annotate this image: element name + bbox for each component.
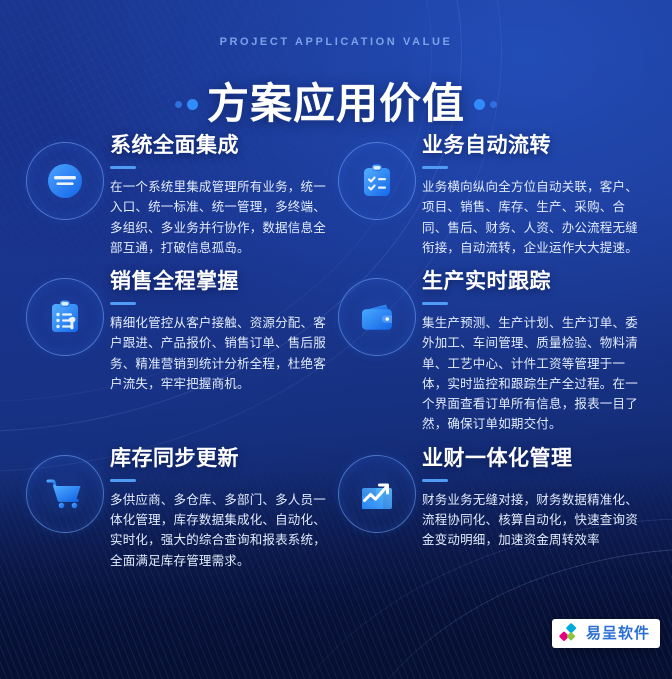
brand-logo[interactable]: 易呈软件 [552, 619, 660, 648]
value-card: 系统全面集成 在一个系统里集成管理所有业务，统一入口、统一标准、统一管理，多终端… [26, 128, 326, 258]
card-icon-frame [338, 278, 416, 356]
clipboard-tools-icon [42, 294, 88, 340]
header-dots-right [474, 99, 497, 110]
diamond-squares-icon [559, 623, 580, 644]
decor-dot-small-icon [490, 101, 497, 108]
card-rule [422, 479, 448, 482]
value-card-grid: 系统全面集成 在一个系统里集成管理所有业务，统一入口、统一标准、统一管理，多终端… [26, 128, 646, 571]
card-text: 财务业务无缝对接，财务数据精准化、流程协同化、核算自动化，快速查询资金变动明细，… [422, 490, 646, 551]
card-text: 在一个系统里集成管理所有业务，统一入口、统一标准、统一管理，多终端、多组织、多业… [110, 177, 326, 258]
card-icon-frame [26, 142, 104, 220]
card-text: 业务横向纵向全方位自动关联，客户、项目、销售、库存、生产、采购、合同、售后、财务… [422, 177, 646, 258]
value-card: 生产实时跟踪 集生产预测、生产计划、生产订单、委外加工、车间管理、质量检验、物料… [326, 264, 646, 435]
shopping-cart-icon [42, 471, 88, 517]
card-body: 系统全面集成 在一个系统里集成管理所有业务，统一入口、统一标准、统一管理，多终端… [110, 128, 326, 258]
card-title: 库存同步更新 [110, 447, 326, 470]
value-card: 销售全程掌握 精细化管控从客户接触、资源分配、客户跟进、产品报价、销售订单、售后… [26, 264, 326, 435]
card-text: 集生产预测、生产计划、生产订单、委外加工、车间管理、质量检验、物料清单、工艺中心… [422, 313, 646, 435]
header-dots-left [175, 99, 198, 110]
wallet-icon [354, 294, 400, 340]
list-lines-icon [42, 158, 88, 204]
decor-dot-small-icon [175, 101, 182, 108]
card-body: 业务自动流转 业务横向纵向全方位自动关联，客户、项目、销售、库存、生产、采购、合… [422, 128, 646, 258]
brand-logo-text: 易呈软件 [586, 626, 650, 641]
value-card: 业务自动流转 业务横向纵向全方位自动关联，客户、项目、销售、库存、生产、采购、合… [326, 128, 646, 258]
card-rule [422, 166, 448, 169]
card-title: 销售全程掌握 [110, 270, 326, 293]
decor-dot-large-icon [187, 99, 198, 110]
card-title: 业财一体化管理 [422, 447, 646, 470]
header-eyebrow: PROJECT APPLICATION VALUE [0, 36, 672, 48]
card-title: 业务自动流转 [422, 134, 646, 157]
growth-chart-icon [354, 471, 400, 517]
card-rule [110, 302, 136, 305]
clipboard-check-icon [354, 158, 400, 204]
card-rule [422, 302, 448, 305]
card-title: 生产实时跟踪 [422, 270, 646, 293]
card-body: 库存同步更新 多供应商、多仓库、多部门、多人员一体化管理，库存数据集成化、自动化… [110, 441, 326, 571]
card-icon-frame [26, 455, 104, 533]
poster-canvas: PROJECT APPLICATION VALUE 方案应用价值 [0, 0, 672, 679]
card-icon-frame [338, 142, 416, 220]
card-text: 精细化管控从客户接触、资源分配、客户跟进、产品报价、销售订单、售后服务、精准营销… [110, 313, 326, 394]
page-title: 方案应用价值 [207, 83, 465, 125]
decor-dot-large-icon [474, 99, 485, 110]
card-icon-frame [26, 278, 104, 356]
value-card: 业财一体化管理 财务业务无缝对接，财务数据精准化、流程协同化、核算自动化，快速查… [326, 441, 646, 571]
value-card: 库存同步更新 多供应商、多仓库、多部门、多人员一体化管理，库存数据集成化、自动化… [26, 441, 326, 571]
card-title: 系统全面集成 [110, 134, 326, 157]
card-rule [110, 166, 136, 169]
card-text: 多供应商、多仓库、多部门、多人员一体化管理，库存数据集成化、自动化、实时化，强大… [110, 490, 326, 571]
card-body: 生产实时跟踪 集生产预测、生产计划、生产订单、委外加工、车间管理、质量检验、物料… [422, 264, 646, 435]
card-rule [110, 479, 136, 482]
card-body: 销售全程掌握 精细化管控从客户接触、资源分配、客户跟进、产品报价、销售订单、售后… [110, 264, 326, 394]
card-body: 业财一体化管理 财务业务无缝对接，财务数据精准化、流程协同化、核算自动化，快速查… [422, 441, 646, 551]
card-icon-frame [338, 455, 416, 533]
